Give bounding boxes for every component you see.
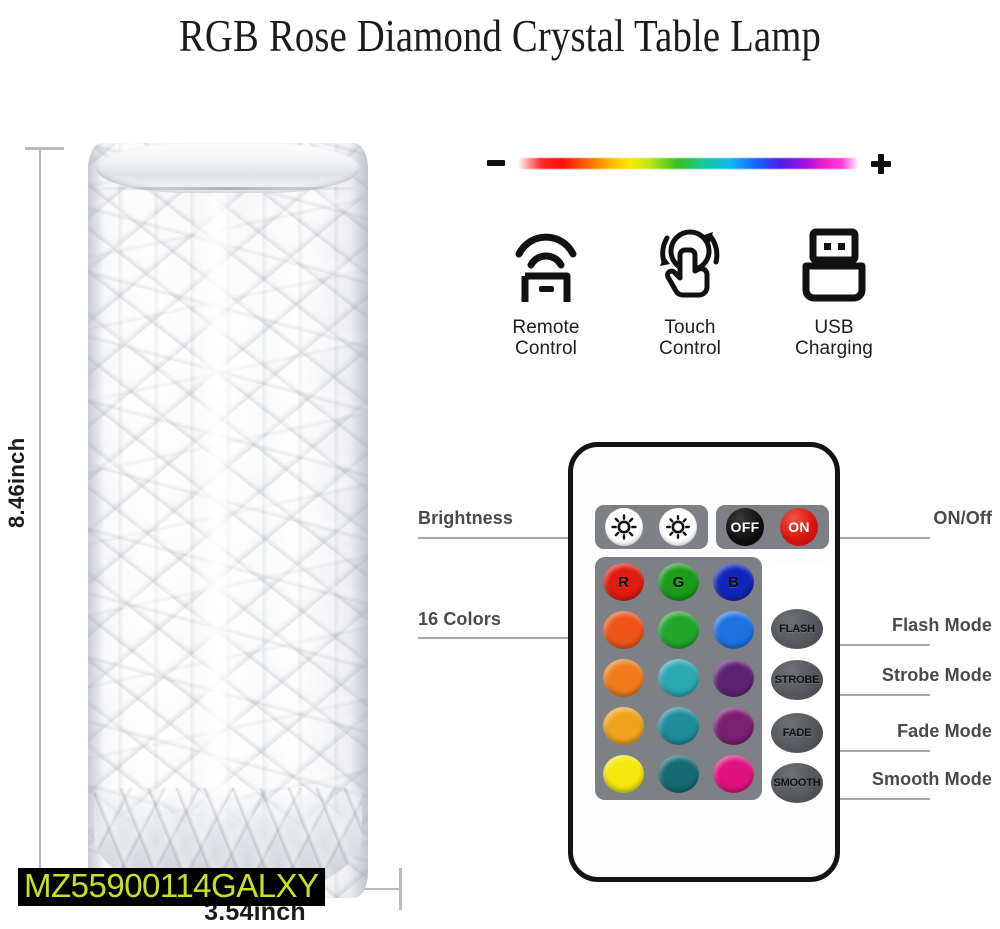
height-dimension-cap: [25, 147, 64, 150]
strobe-mode-button[interactable]: STROBE: [771, 660, 823, 700]
color-gradient-bar: [487, 152, 891, 184]
minus-icon: [487, 160, 505, 166]
flash-mode-button[interactable]: FLASH: [771, 609, 823, 649]
lamp-left-edge-shade: [88, 143, 104, 898]
power-panel: OFF ON: [716, 505, 829, 549]
power-off-button[interactable]: OFF: [726, 508, 764, 546]
callout-fade-mode: Fade Mode: [897, 721, 992, 742]
color-button-orange[interactable]: [603, 659, 644, 697]
lamp-top-cap: [96, 143, 360, 193]
sun-dim-icon: [665, 514, 691, 540]
color-button-yellow[interactable]: [603, 755, 644, 793]
feature-caption: USB Charging: [795, 317, 873, 360]
lamp-highlight: [194, 188, 239, 852]
lamp-body: [88, 143, 368, 898]
power-on-button[interactable]: ON: [780, 508, 818, 546]
color-button-cyan[interactable]: [658, 659, 699, 697]
color-button-green[interactable]: G: [658, 563, 699, 601]
rainbow-gradient: [517, 158, 859, 169]
feature-caption: Touch Control: [659, 317, 721, 360]
usb-charging-icon: [794, 215, 874, 311]
crystal-lamp-photo: [88, 143, 368, 898]
feature-caption-line2: Charging: [795, 338, 873, 359]
callout-16-colors: 16 Colors: [418, 609, 501, 630]
fade-mode-button[interactable]: FADE: [771, 713, 823, 753]
feature-caption-line1: Touch: [664, 317, 715, 338]
callout-smooth-mode: Smooth Mode: [872, 769, 992, 790]
color-button-purple[interactable]: [713, 659, 754, 697]
remote-control-icon: [503, 215, 589, 311]
lamp-right-edge-shade: [350, 143, 368, 898]
color-button-amber[interactable]: [603, 707, 644, 745]
brightness-panel: [595, 505, 708, 549]
lamp-top-rim: [102, 187, 354, 190]
feature-caption-line2: Control: [659, 338, 721, 359]
product-infographic: RGB Rose Diamond Crystal Table Lamp 8.46…: [0, 0, 1000, 929]
mode-button-strip: FLASH STROBE FADE SMOOTH: [766, 565, 832, 801]
feature-caption-line2: Control: [515, 338, 577, 359]
seller-watermark: MZ55900114GALXY: [18, 868, 325, 906]
color-button-dark-teal[interactable]: [658, 755, 699, 793]
color-button-red[interactable]: R: [603, 563, 644, 601]
smooth-mode-button[interactable]: SMOOTH: [771, 763, 823, 803]
color-button-blue-mid[interactable]: [713, 611, 754, 649]
feature-remote-control: Remote Control: [480, 215, 612, 390]
sun-bright-icon: [611, 514, 637, 540]
color-button-teal[interactable]: [658, 707, 699, 745]
color-button-green-mid[interactable]: [658, 611, 699, 649]
callout-strobe-mode: Strobe Mode: [882, 665, 992, 686]
callout-brightness: Brightness: [418, 508, 513, 529]
remote-control: OFF ON R G B: [568, 442, 840, 882]
feature-usb-charging: USB Charging: [768, 215, 900, 390]
feature-caption: Remote Control: [512, 317, 579, 360]
feature-caption-line1: USB: [814, 317, 853, 338]
brightness-down-button[interactable]: [659, 508, 697, 546]
touch-control-icon: [645, 215, 735, 311]
color-button-magenta-purple[interactable]: [713, 707, 754, 745]
page-title: RGB Rose Diamond Crystal Table Lamp: [70, 10, 930, 62]
color-button-pink[interactable]: [713, 755, 754, 793]
color-button-blue[interactable]: B: [713, 563, 754, 601]
callout-on-off: ON/Off: [933, 508, 992, 529]
color-grid-panel: R G B: [595, 557, 762, 800]
callout-flash-mode: Flash Mode: [892, 615, 992, 636]
brightness-up-button[interactable]: [605, 508, 643, 546]
feature-caption-line1: Remote: [512, 317, 579, 338]
feature-touch-control: Touch Control: [624, 215, 756, 390]
height-dimension-label: 8.46inch: [4, 438, 30, 528]
plus-icon: [871, 154, 891, 174]
color-button-orange-red[interactable]: [603, 611, 644, 649]
height-dimension-line: [39, 148, 41, 890]
feature-icon-row: Remote Control Touch Cont: [480, 215, 900, 390]
